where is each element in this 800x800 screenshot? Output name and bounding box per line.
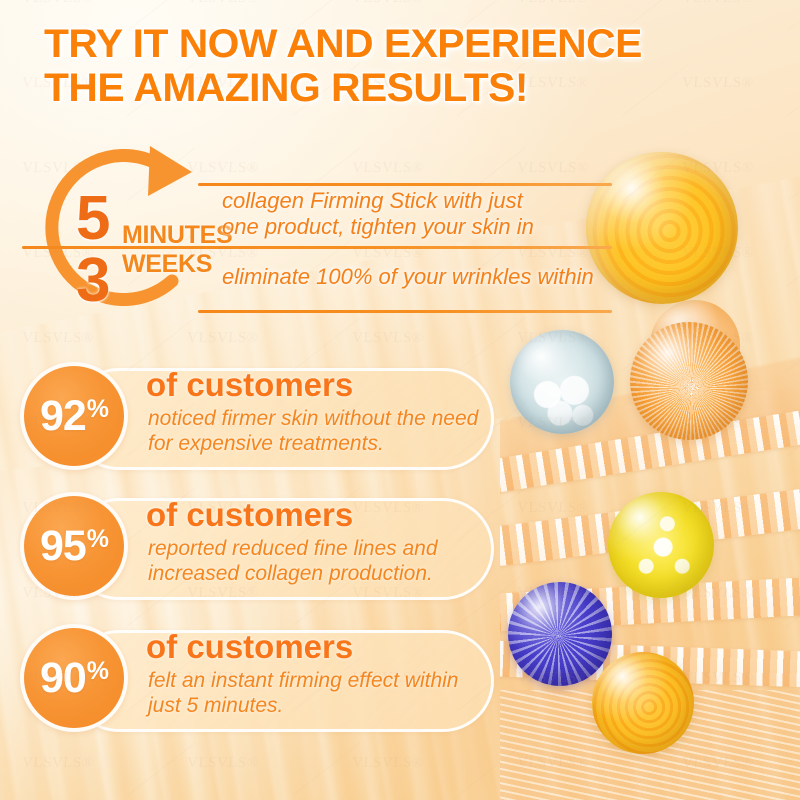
divider-rule-middle: [22, 246, 612, 249]
stat-percent-badge: 92%: [20, 362, 128, 470]
stat-title: of customers: [146, 630, 353, 663]
clear-bubble-sphere: [510, 330, 614, 434]
timing-unit-weeks: WEEKS: [122, 252, 212, 277]
divider-rule-top: [198, 183, 612, 186]
headline-line-2: THE AMAZING RESULTS!: [44, 66, 778, 110]
honeycomb-small-sphere: [592, 652, 694, 754]
stat-description: noticed firmer skin without the need for…: [148, 406, 498, 456]
stat-row: 90% of customers felt an instant firming…: [20, 624, 490, 732]
stat-row: 95% of customers reported reduced fine l…: [20, 492, 490, 600]
timing-block: 5 MINUTES collagen Firming Stick with ju…: [22, 140, 622, 315]
skin-science-artwork: [500, 0, 800, 800]
percent-symbol: %: [87, 659, 108, 684]
stat-title: of customers: [146, 368, 353, 401]
stat-percent-value: 90: [40, 657, 86, 700]
stat-description: reported reduced fine lines and increase…: [148, 536, 498, 586]
percent-symbol: %: [87, 397, 108, 422]
stat-percent-value: 95: [40, 525, 86, 568]
stat-title: of customers: [146, 498, 353, 531]
percent-symbol: %: [87, 527, 108, 552]
divider-rule-bottom: [198, 310, 612, 313]
poster-canvas: TRY IT NOW AND EXPERIENCE THE AMAZING RE…: [0, 0, 800, 800]
stat-row: 92% of customers noticed firmer skin wit…: [20, 362, 490, 470]
headline-line-1: TRY IT NOW AND EXPERIENCE: [44, 22, 642, 66]
amber-burst-sphere: [630, 322, 748, 440]
timing-number-minutes: 5: [76, 188, 110, 250]
timing-text-weeks: eliminate 100% of your wrinkles within: [222, 264, 594, 290]
stat-percent-badge: 95%: [20, 492, 128, 600]
timing-text-minutes: collagen Firming Stick with just one pro…: [222, 188, 534, 240]
timing-rows: 5 MINUTES collagen Firming Stick with ju…: [22, 140, 622, 315]
stat-percent-value: 92: [40, 395, 86, 438]
blue-swirl-sphere: [508, 582, 612, 686]
timing-number-weeks: 3: [76, 250, 110, 312]
page-title: TRY IT NOW AND EXPERIENCE THE AMAZING RE…: [44, 22, 778, 110]
stat-description: felt an instant firming effect within ju…: [148, 668, 498, 718]
yellow-molecule-sphere: [608, 492, 714, 598]
stat-percent-badge: 90%: [20, 624, 128, 732]
timing-unit-minutes: MINUTES: [122, 223, 232, 248]
